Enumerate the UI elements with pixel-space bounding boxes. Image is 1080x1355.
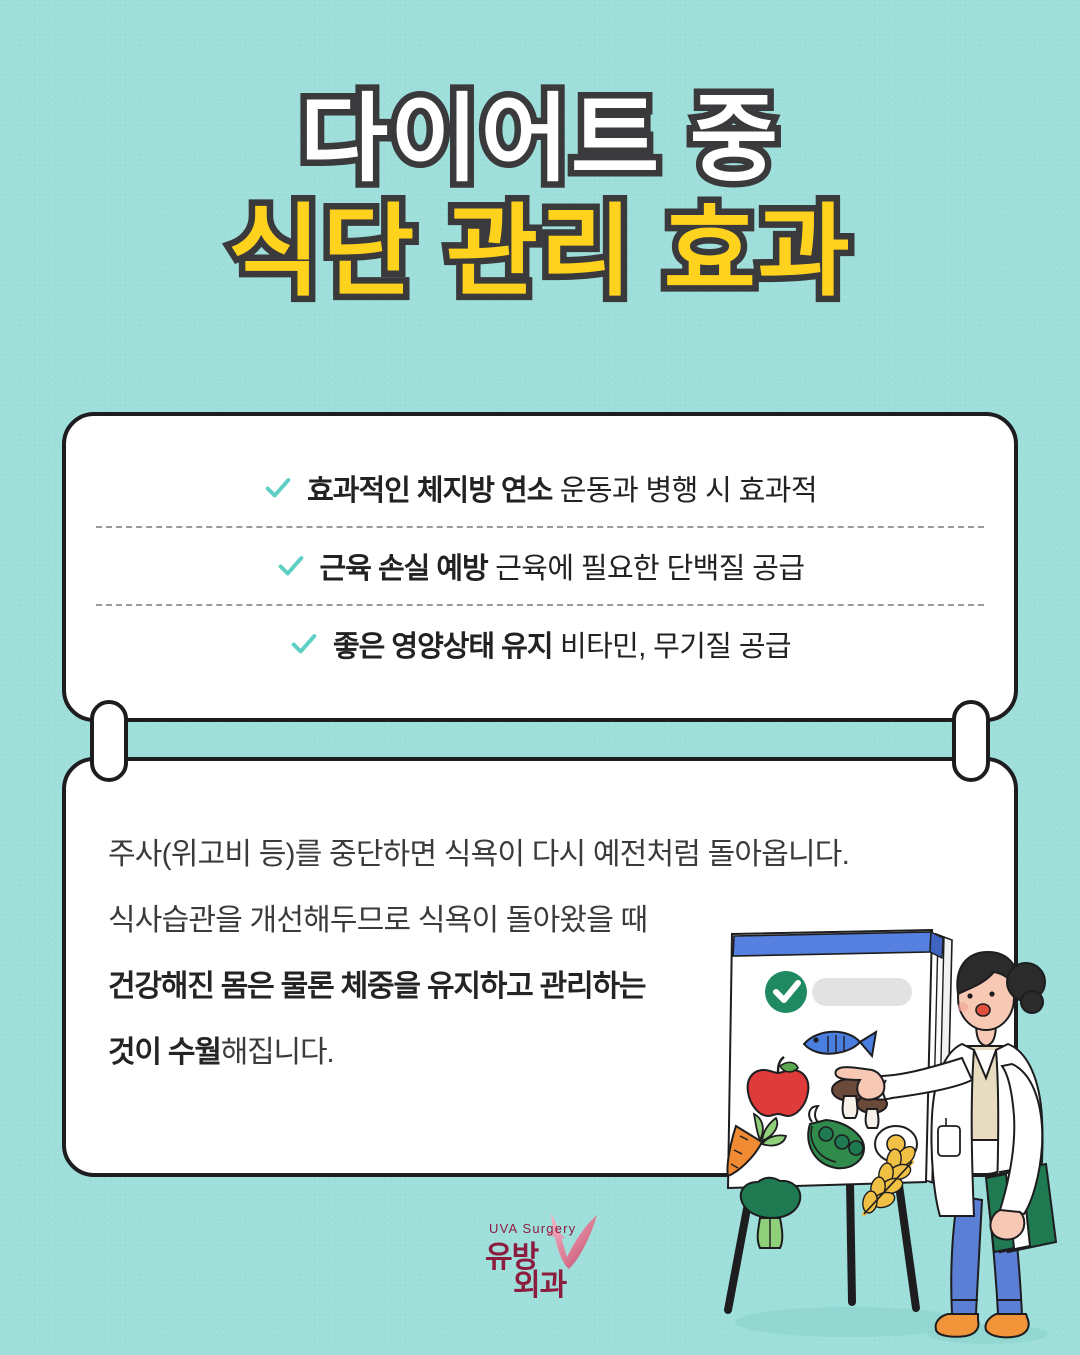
- checklist-item-text: 근육 손실 예방 근육에 필요한 단백질 공급: [320, 545, 805, 587]
- card-clip-left: [90, 700, 128, 782]
- logo-svg: UVA Surgery 유방 외과: [455, 1205, 635, 1300]
- page-title: 다이어트 중 식단 관리 효과: [0, 92, 1080, 302]
- doctor-hand-holding: [990, 1210, 1024, 1239]
- placeholder-bar: [812, 978, 912, 1006]
- coat-badge: [938, 1126, 960, 1156]
- checklist-item-text: 효과적인 체지방 연소 운동과 병행 시 효과적: [307, 467, 817, 509]
- doctor-shoe-left: [936, 1314, 979, 1337]
- illustration-svg: [700, 910, 1080, 1350]
- checklist-item-strong: 좋은 영양상태 유지: [333, 631, 553, 663]
- title-line-secondary: 식단 관리 효과: [0, 202, 1080, 302]
- check-icon: [263, 473, 293, 503]
- clinic-logo: UVA Surgery 유방 외과: [455, 1205, 635, 1300]
- description-line-4-bold: 것이 수월: [108, 1036, 221, 1069]
- check-icon: [276, 551, 306, 581]
- checkbox-checked-icon: [765, 971, 807, 1013]
- checklist-item-rest: 비타민, 무기질 공급: [553, 631, 791, 663]
- checklist-divider: [96, 526, 984, 528]
- title-line-primary: 다이어트 중: [0, 92, 1080, 188]
- checklist-item-strong: 근육 손실 예방: [320, 553, 488, 585]
- doctor-eye: [989, 991, 994, 996]
- doctor-shoe-right: [985, 1314, 1028, 1337]
- checklist-item: 효과적인 체지방 연소 운동과 병행 시 효과적: [90, 452, 990, 524]
- checklist-item-rest: 근육에 필요한 단백질 공급: [488, 553, 805, 585]
- checklist-item-rest: 운동과 병행 시 효과적: [552, 475, 817, 507]
- doctor-blush: [958, 1002, 968, 1012]
- checklist: 효과적인 체지방 연소 운동과 병행 시 효과적 근육 손실 예방 근육에 필요…: [90, 452, 990, 680]
- doctor-eye: [967, 993, 972, 998]
- card-clip-right: [952, 700, 990, 782]
- checklist-item-text: 좋은 영양상태 유지 비타민, 무기질 공급: [333, 623, 791, 665]
- description-line-4-rest: 해집니다.: [221, 1036, 334, 1069]
- logo-korean-bottom: 외과: [513, 1269, 568, 1300]
- illustration-doctor-flipchart: [700, 910, 1080, 1350]
- doctor-hair-bun-lower: [1021, 991, 1043, 1013]
- doctor-mouth: [976, 1004, 990, 1016]
- checklist-item-strong: 효과적인 체지방 연소: [307, 475, 552, 507]
- checklist-item: 근육 손실 예방 근육에 필요한 단백질 공급: [90, 530, 990, 602]
- checklist-divider: [96, 604, 984, 606]
- check-icon: [289, 629, 319, 659]
- description-line-1: 주사(위고비 등)를 중단하면 식욕이 다시 예전처럼 돌아옵니다.: [108, 840, 808, 870]
- flipchart-header-bar: [733, 932, 931, 956]
- logo-english-text: UVA Surgery: [489, 1221, 576, 1236]
- checklist-item: 좋은 영양상태 유지 비타민, 무기질 공급: [90, 608, 990, 680]
